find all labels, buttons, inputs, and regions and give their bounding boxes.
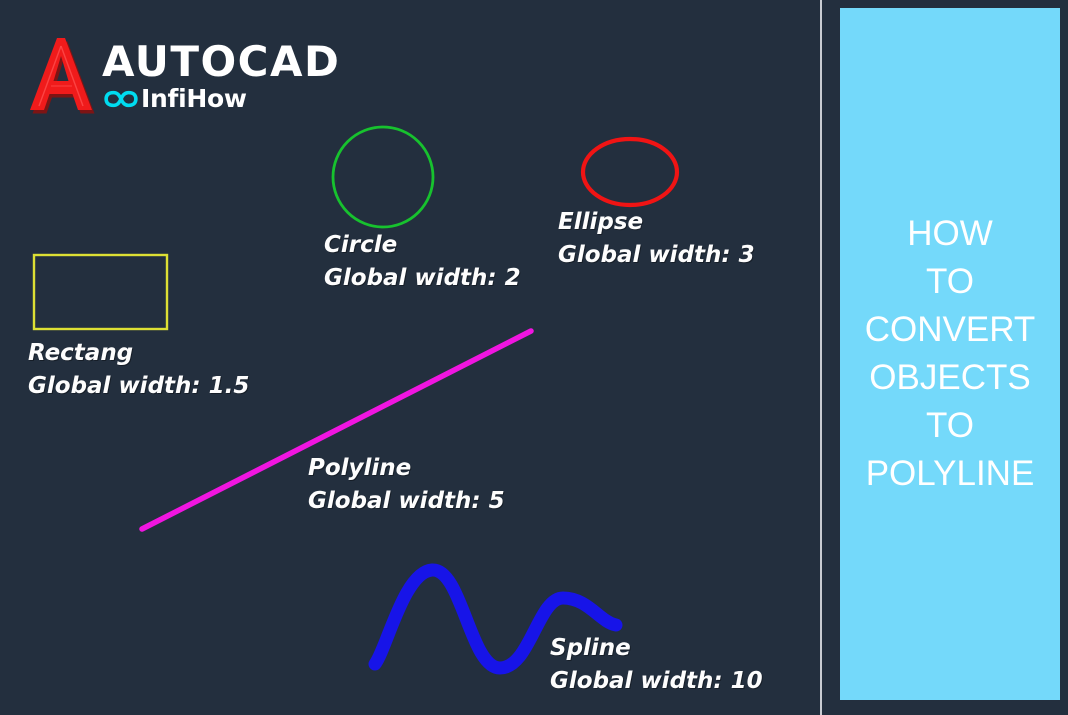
annotation-circle: Circle Global width: 2: [324, 229, 521, 295]
annotation-polyline: Polyline Global width: 5: [308, 452, 505, 518]
title-line-1: HOW: [840, 210, 1060, 258]
annotation-spline-title: Spline: [550, 632, 763, 665]
title-line-4: OBJECTS: [840, 354, 1060, 402]
annotation-rectang-subtitle: Global width: 1.5: [28, 370, 249, 403]
title-panel: HOW TO CONVERT OBJECTS TO POLYLINE: [822, 0, 1068, 715]
title-line-5: TO: [840, 402, 1060, 450]
cad-canvas: AUTOCAD InfiHow Rectang Globa: [0, 0, 821, 715]
annotation-polyline-subtitle: Global width: 5: [308, 485, 505, 518]
annotation-ellipse: Ellipse Global width: 3: [558, 206, 755, 272]
annotation-ellipse-subtitle: Global width: 3: [558, 239, 755, 272]
title-line-6: POLYLINE: [840, 450, 1060, 498]
annotation-circle-subtitle: Global width: 2: [324, 262, 521, 295]
shape-rectangle: [34, 255, 167, 329]
annotation-rectang: Rectang Global width: 1.5: [28, 337, 249, 403]
title-line-3: CONVERT: [840, 306, 1060, 354]
title-line-2: TO: [840, 258, 1060, 306]
annotation-polyline-title: Polyline: [308, 452, 505, 485]
annotation-spline-subtitle: Global width: 10: [550, 665, 763, 698]
annotation-ellipse-title: Ellipse: [558, 206, 755, 239]
shape-circle: [333, 127, 433, 227]
shape-ellipse: [583, 139, 677, 205]
title-heading: HOW TO CONVERT OBJECTS TO POLYLINE: [840, 210, 1060, 498]
title-card: HOW TO CONVERT OBJECTS TO POLYLINE: [840, 8, 1060, 700]
annotation-circle-title: Circle: [324, 229, 521, 262]
screenshot-root: AUTOCAD InfiHow Rectang Globa: [0, 0, 1068, 715]
annotation-rectang-title: Rectang: [28, 337, 249, 370]
annotation-spline: Spline Global width: 10: [550, 632, 763, 698]
